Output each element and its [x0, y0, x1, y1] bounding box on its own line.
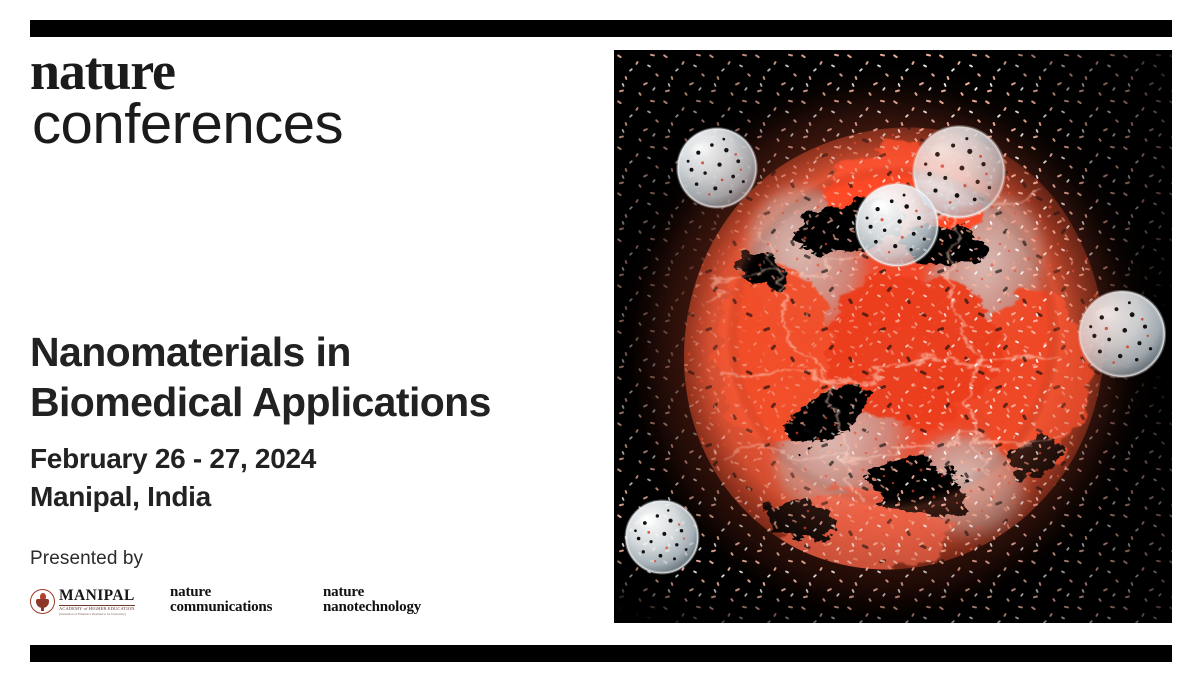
- page-title: Nanomaterials in Biomedical Applications: [30, 327, 590, 427]
- manipal-torch-icon: [30, 589, 55, 614]
- brand-conferences-wordmark: conferences: [32, 96, 343, 153]
- manipal-name: MANIPAL: [59, 588, 135, 604]
- nature-nanotechnology-bottom: nanotechnology: [323, 600, 473, 615]
- top-rule: [30, 20, 1172, 37]
- nature-conferences-logo: nature conferences: [30, 45, 337, 153]
- manipal-stem-shape: [41, 607, 44, 611]
- nature-nanotechnology-logo: nature nanotechnology: [323, 585, 473, 616]
- nanoparticle-illustration: [614, 50, 1172, 623]
- nature-communications-top: nature: [170, 585, 310, 600]
- nature-nanotechnology-top: nature: [323, 585, 473, 600]
- brand-nature-wordmark: nature: [30, 45, 337, 98]
- manipal-logo: MANIPAL ACADEMY of HIGHER EDUCATION (Ins…: [30, 588, 150, 616]
- bottom-rule: [30, 645, 1172, 662]
- left-content-column: nature conferences Nanomaterials in Biom…: [30, 45, 590, 625]
- nature-communications-logo: nature communications: [170, 585, 310, 616]
- conference-poster: nature conferences Nanomaterials in Biom…: [0, 0, 1200, 675]
- manipal-tagline: (Institution of Eminence Deemed to be Un…: [59, 613, 135, 616]
- nature-communications-bottom: communications: [170, 600, 310, 615]
- page-title-line-2: Biomedical Applications: [30, 377, 590, 427]
- page-title-line-1: Nanomaterials in: [30, 327, 590, 377]
- event-details: February 26 - 27, 2024 Manipal, India: [30, 440, 550, 517]
- presented-by-label: Presented by: [30, 548, 143, 570]
- event-location: Manipal, India: [30, 478, 550, 516]
- manipal-logo-text: MANIPAL ACADEMY of HIGHER EDUCATION (Ins…: [59, 588, 135, 616]
- event-date: February 26 - 27, 2024: [30, 440, 550, 478]
- nanoparticle-artwork: [614, 50, 1172, 623]
- manipal-subtitle: ACADEMY of HIGHER EDUCATION: [59, 605, 135, 611]
- sponsor-logo-row: MANIPAL ACADEMY of HIGHER EDUCATION (Ins…: [30, 585, 473, 616]
